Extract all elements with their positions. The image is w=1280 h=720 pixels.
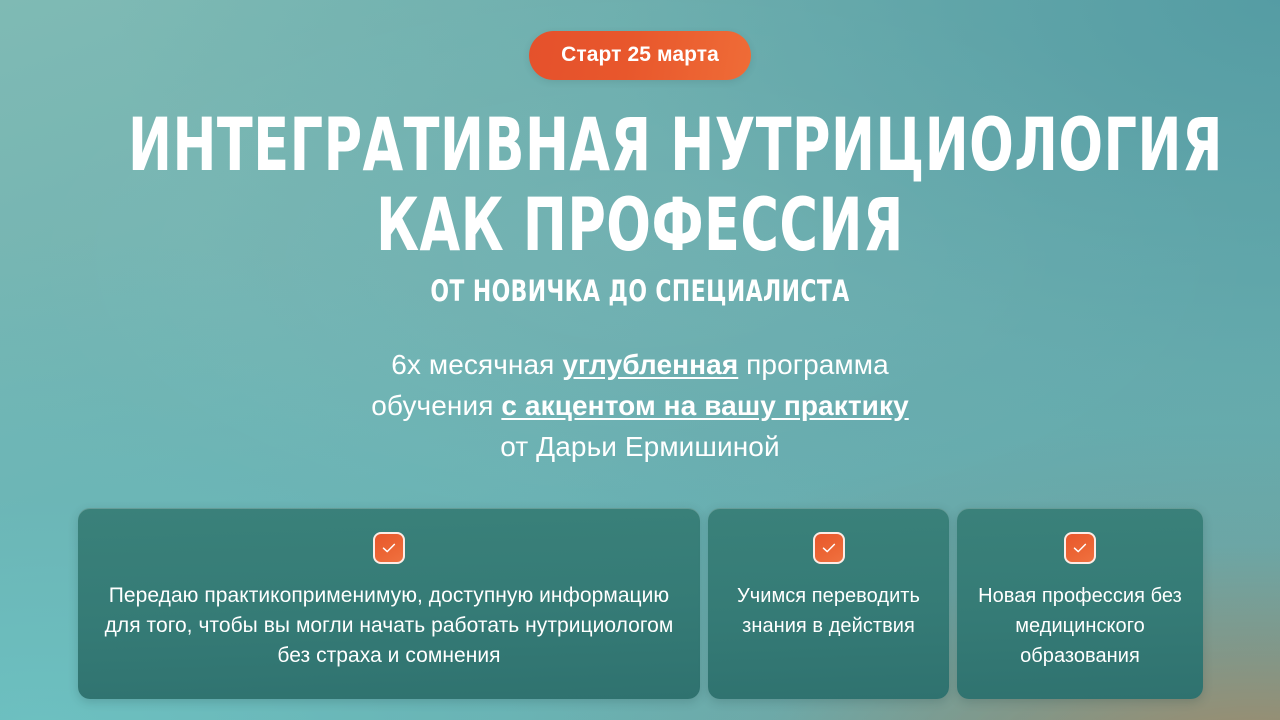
title-line-1: Интегративная нутрициология: [128, 110, 1152, 182]
lead-text-2: программа: [738, 349, 889, 380]
feature-card-text: Передаю практикоприменимую, доступную ин…: [92, 581, 686, 671]
feature-card-text: Учимся переводить знания в действия: [722, 581, 935, 641]
check-icon: [813, 532, 845, 564]
lead-line-1: 6х месячная углубленная программа: [0, 344, 1280, 385]
lead-line-2: обучения с акцентом на вашу практику: [0, 385, 1280, 426]
feature-cards: Передаю практикоприменимую, доступную ин…: [78, 508, 1203, 699]
hero-section: Старт 25 марта Интегративная нутрициолог…: [0, 0, 1280, 720]
title-line-2: Как профессия: [128, 190, 1152, 262]
feature-card[interactable]: Учимся переводить знания в действия: [708, 508, 949, 699]
start-date-badge[interactable]: Старт 25 марта: [529, 31, 751, 80]
feature-card[interactable]: Передаю практикоприменимую, доступную ин…: [78, 508, 700, 699]
lead-text-1: 6х месячная: [391, 349, 562, 380]
feature-card-text: Новая профессия без медицинского образов…: [971, 581, 1189, 671]
lead-line-3: от Дарьи Ермишиной: [0, 426, 1280, 467]
feature-card[interactable]: Новая профессия без медицинского образов…: [957, 508, 1203, 699]
lead-paragraph: 6х месячная углубленная программа обучен…: [0, 344, 1280, 467]
lead-text-3: обучения: [371, 390, 501, 421]
lead-author: от Дарьи Ермишиной: [500, 431, 779, 462]
page-title: Интегративная нутрициология Как професси…: [0, 110, 1280, 306]
badge-container: Старт 25 марта: [0, 31, 1280, 80]
check-icon: [1064, 532, 1096, 564]
check-icon: [373, 532, 405, 564]
lead-highlight-1: углубленная: [562, 349, 738, 380]
lead-highlight-2: с акцентом на вашу практику: [501, 390, 908, 421]
title-subtitle: От новичка до специалиста: [102, 277, 1177, 306]
